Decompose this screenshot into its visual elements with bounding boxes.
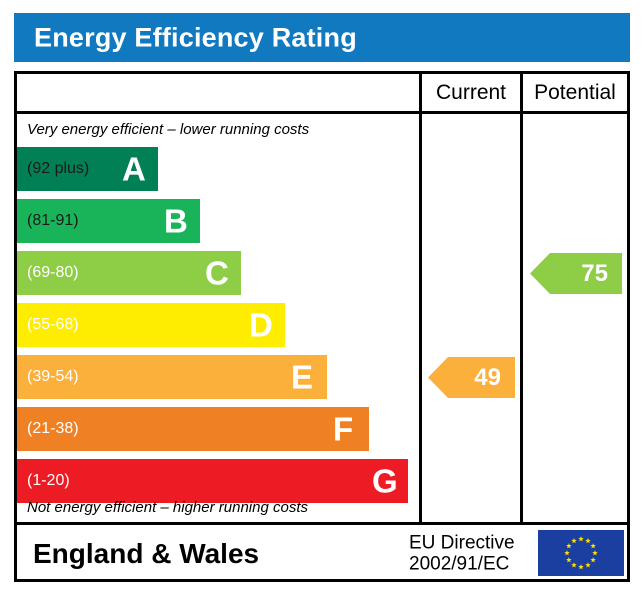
band-letter-e: E (291, 361, 313, 394)
column-divider-current (419, 74, 422, 522)
footer-directive-line1: EU Directive (409, 532, 515, 553)
band-range-e: (39-54) (27, 368, 79, 386)
page-title: Energy Efficiency Rating (34, 22, 357, 53)
band-range-a: (92 plus) (27, 160, 89, 178)
band-letter-b: B (164, 205, 188, 238)
potential-rating-arrow: 75 (530, 253, 622, 294)
band-range-g: (1-20) (27, 472, 70, 490)
title-bar: Energy Efficiency Rating (14, 13, 630, 62)
certificate-footer: England & Wales EU Directive 2002/91/EC (17, 525, 627, 582)
band-letter-d: D (249, 309, 273, 342)
band-letter-c: C (205, 257, 229, 290)
band-range-b: (81-91) (27, 212, 79, 230)
potential-rating-value: 75 (581, 260, 608, 288)
band-range-d: (55-68) (27, 316, 79, 334)
band-row-b: (81-91)B (17, 199, 419, 243)
current-rating-value: 49 (474, 364, 501, 392)
band-letter-f: F (333, 413, 353, 446)
caption-efficient: Very energy efficient – lower running co… (27, 121, 309, 138)
band-row-a: (92 plus)A (17, 147, 419, 191)
footer-directive-line2: 2002/91/EC (409, 554, 515, 575)
footer-region-label: England & Wales (33, 538, 259, 570)
column-divider-potential (520, 74, 523, 522)
band-row-d: (55-68)D (17, 303, 419, 347)
band-row-f: (21-38)F (17, 407, 419, 451)
band-row-c: (69-80)C (17, 251, 419, 295)
band-letter-a: A (122, 153, 146, 186)
band-letter-g: G (372, 465, 398, 498)
band-list: (92 plus)A(81-91)B(69-80)C(55-68)D(39-54… (17, 147, 419, 511)
caption-inefficient: Not energy efficient – higher running co… (27, 499, 308, 516)
band-bar-g (17, 459, 408, 503)
column-header-current: Current (422, 74, 520, 111)
rating-table: Current Potential Very energy efficient … (14, 71, 630, 582)
band-row-e: (39-54)E (17, 355, 419, 399)
eu-flag-icon (538, 530, 624, 576)
column-header-potential: Potential (523, 74, 627, 111)
footer-directive-label: EU Directive 2002/91/EC (409, 532, 515, 575)
band-range-f: (21-38) (27, 420, 79, 438)
energy-efficiency-certificate: Energy Efficiency Rating Current Potenti… (0, 0, 643, 602)
band-row-g: (1-20)G (17, 459, 419, 503)
band-range-c: (69-80) (27, 264, 79, 282)
current-rating-arrow: 49 (428, 357, 515, 398)
bands-column: Very energy efficient – lower running co… (17, 114, 419, 522)
